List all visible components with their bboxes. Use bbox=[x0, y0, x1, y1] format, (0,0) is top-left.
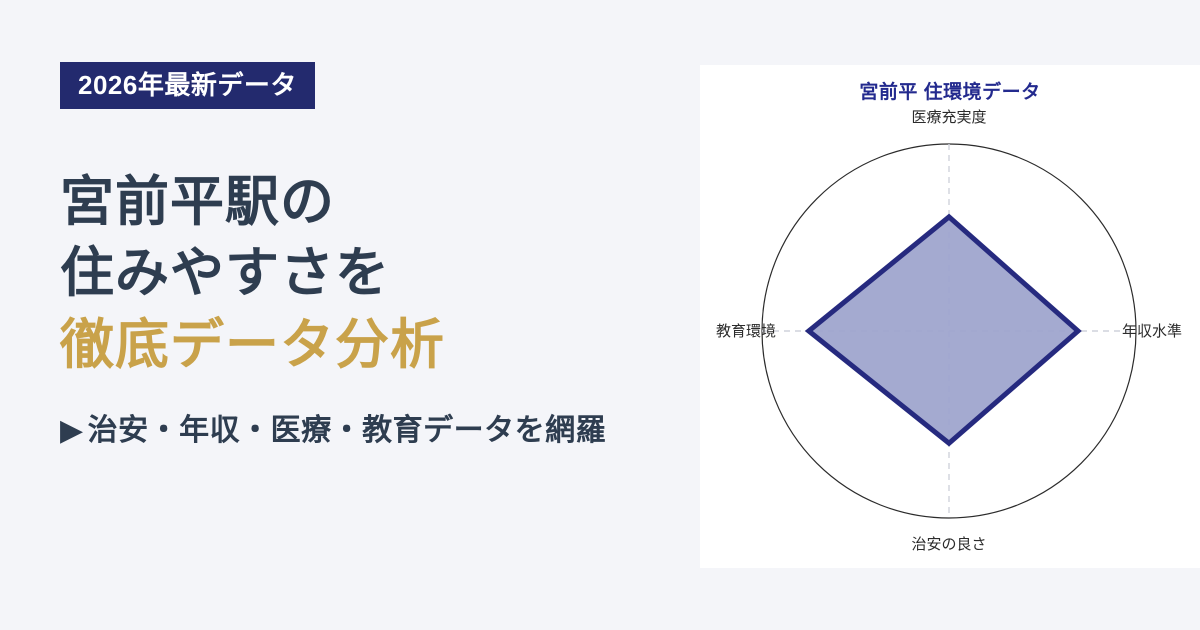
page-title: 宮前平駅の 住みやすさを 徹底データ分析 bbox=[60, 167, 700, 381]
radar-chart-svg: 医療充実度 年収水準 治安の良さ 教育環境 bbox=[700, 65, 1200, 568]
headline-line-2: 住みやすさを bbox=[60, 238, 700, 309]
radar-data-polygon bbox=[809, 217, 1078, 443]
subtitle: ▶治安・年収・医療・教育データを網羅 bbox=[60, 405, 700, 449]
headline-line-3: 徹底データ分析 bbox=[60, 310, 700, 381]
play-triangle-icon: ▶ bbox=[60, 413, 84, 448]
hero-text-column: 2026年最新データ 宮前平駅の 住みやすさを 徹底データ分析 ▶治安・年収・医… bbox=[0, 0, 700, 630]
status-badge: 2026年最新データ bbox=[60, 62, 315, 109]
axis-label-medical: 医療充実度 bbox=[911, 109, 986, 126]
subtitle-text: 治安・年収・医療・教育データを網羅 bbox=[88, 414, 607, 447]
axis-label-safety: 治安の良さ bbox=[911, 536, 986, 553]
axis-label-education: 教育環境 bbox=[716, 322, 776, 340]
radar-chart-panel: 宮前平 住環境データ 医療充実度 年収水準 治安の良さ 教育環境 bbox=[700, 65, 1200, 568]
headline-line-1: 宮前平駅の bbox=[60, 167, 700, 238]
axis-label-income: 年収水準 bbox=[1122, 323, 1182, 340]
